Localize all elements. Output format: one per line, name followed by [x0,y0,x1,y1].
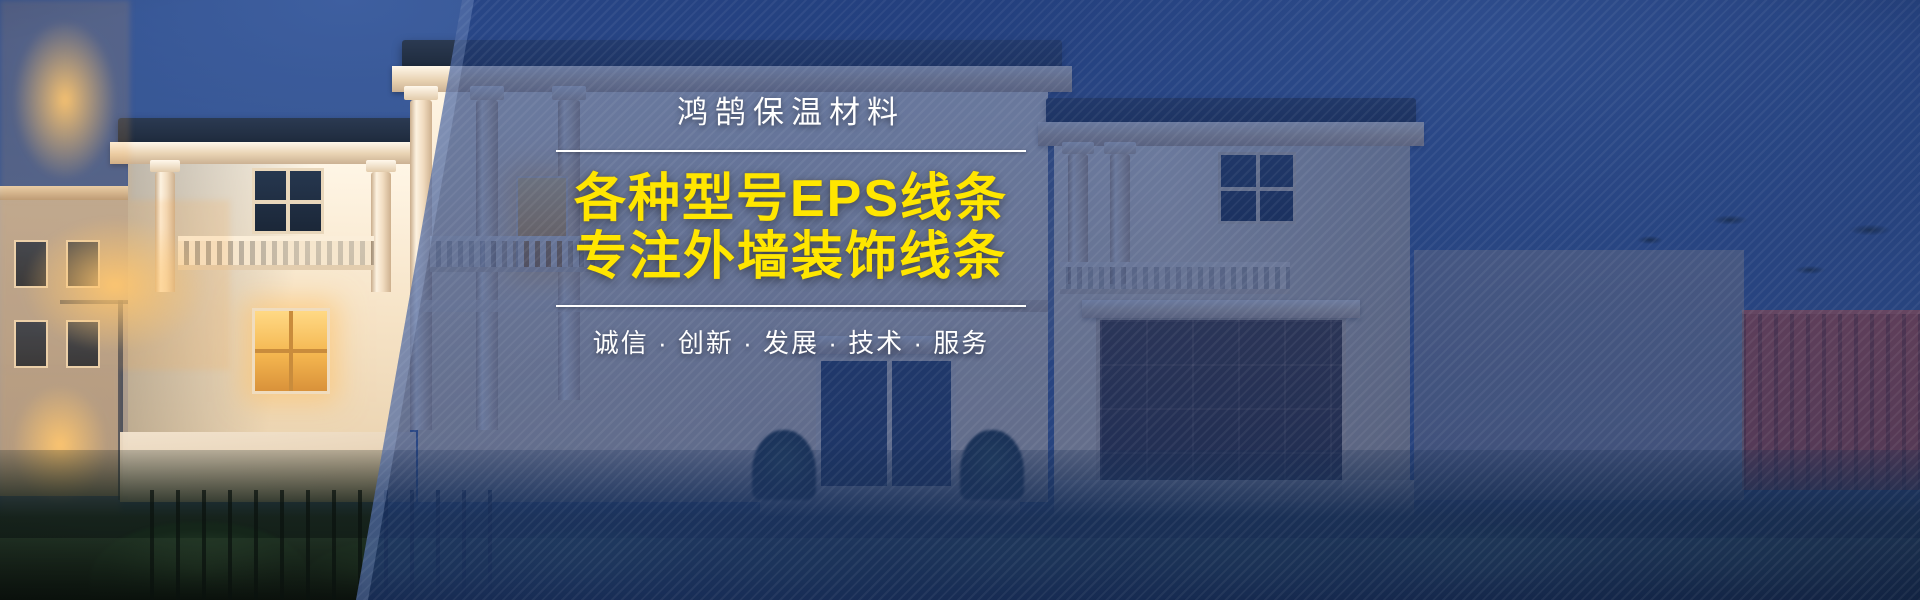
left-column-2 [371,172,391,292]
left-wing-window-lit [252,308,330,394]
brand-name: 鸿鹄保温材料 [556,96,1026,130]
entrance-light-glow [0,200,230,370]
headline-line-1: 各种型号EPS线条 [556,170,1026,228]
window-mullion-horizontal [255,200,321,204]
banner-text-block: 鸿鹄保温材料 各种型号EPS线条 专注外墙装饰线条 诚信 · 创新 · 发展 ·… [556,96,1026,360]
left-wing-window-upper [252,168,324,234]
hero-banner: 鸿鹄保温材料 各种型号EPS线条 专注外墙装饰线条 诚信 · 创新 · 发展 ·… [0,0,1920,600]
left-wing-roof [118,118,418,144]
left-column-capital-1 [150,160,180,172]
center-column-capital-1 [404,86,438,100]
divider-bottom [556,305,1026,307]
headline-line-2: 专注外墙装饰线条 [556,228,1026,286]
window-mullion-horizontal [255,349,327,353]
divider-top [556,150,1026,152]
left-column-capital-2 [366,160,396,172]
portico-light-glow [0,0,130,200]
headline-group: 各种型号EPS线条 专注外墙装饰线条 [556,170,1026,286]
tagline: 诚信 · 创新 · 发展 · 技术 · 服务 [556,323,1026,360]
